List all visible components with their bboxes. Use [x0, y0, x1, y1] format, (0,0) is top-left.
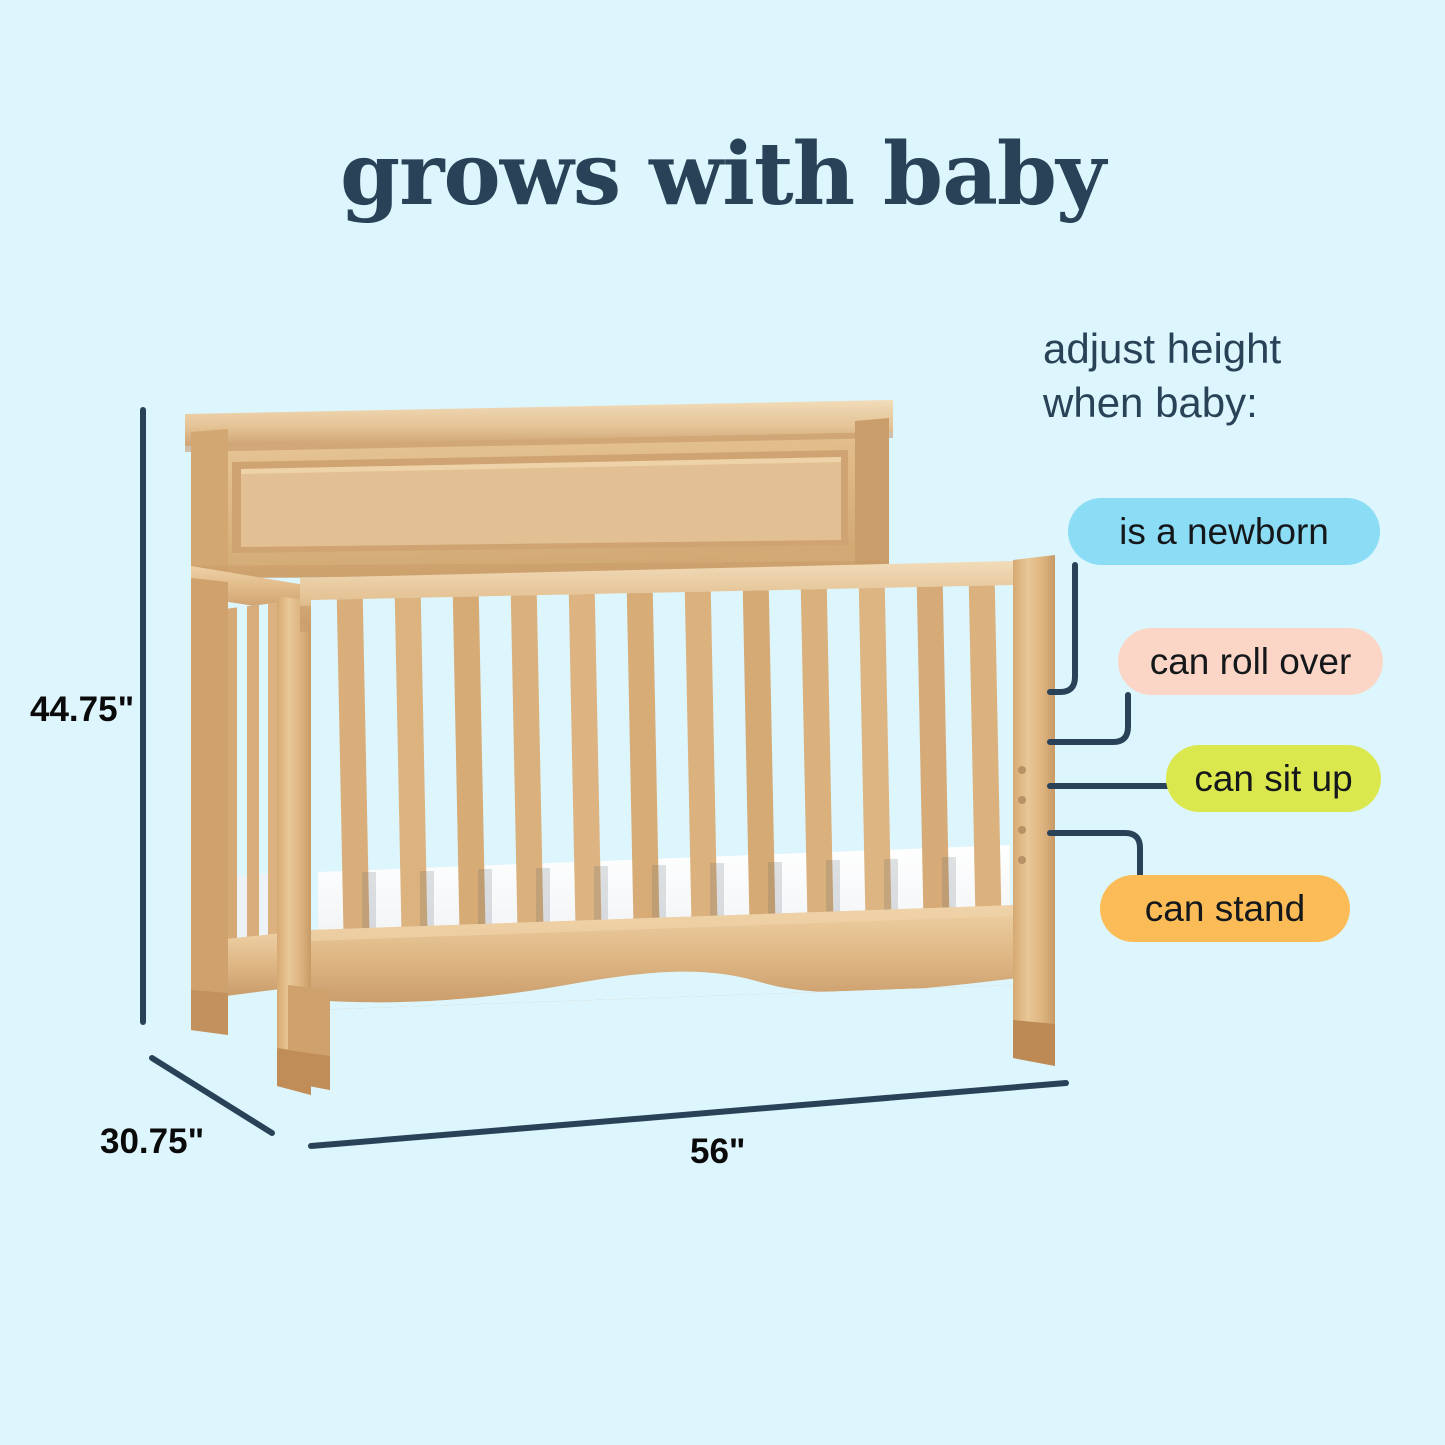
milestone-pill-newborn[interactable]: is a newborn	[1068, 498, 1380, 565]
milestone-pill-roll-over-label: can roll over	[1150, 641, 1352, 683]
milestone-pill-can-stand[interactable]: can stand	[1100, 875, 1350, 942]
connector-roll-over	[1050, 695, 1128, 742]
connector-newborn	[1050, 565, 1075, 692]
milestone-pill-can-stand-label: can stand	[1145, 888, 1305, 930]
milestone-pill-roll-over[interactable]: can roll over	[1118, 628, 1383, 695]
infographic-canvas: grows with baby	[0, 0, 1445, 1445]
connector-can-stand	[1050, 833, 1140, 875]
milestone-pill-newborn-label: is a newborn	[1119, 511, 1329, 553]
milestone-pill-sit-up[interactable]: can sit up	[1166, 745, 1381, 812]
milestone-pill-sit-up-label: can sit up	[1194, 758, 1352, 800]
callout-connectors	[0, 0, 1445, 1445]
